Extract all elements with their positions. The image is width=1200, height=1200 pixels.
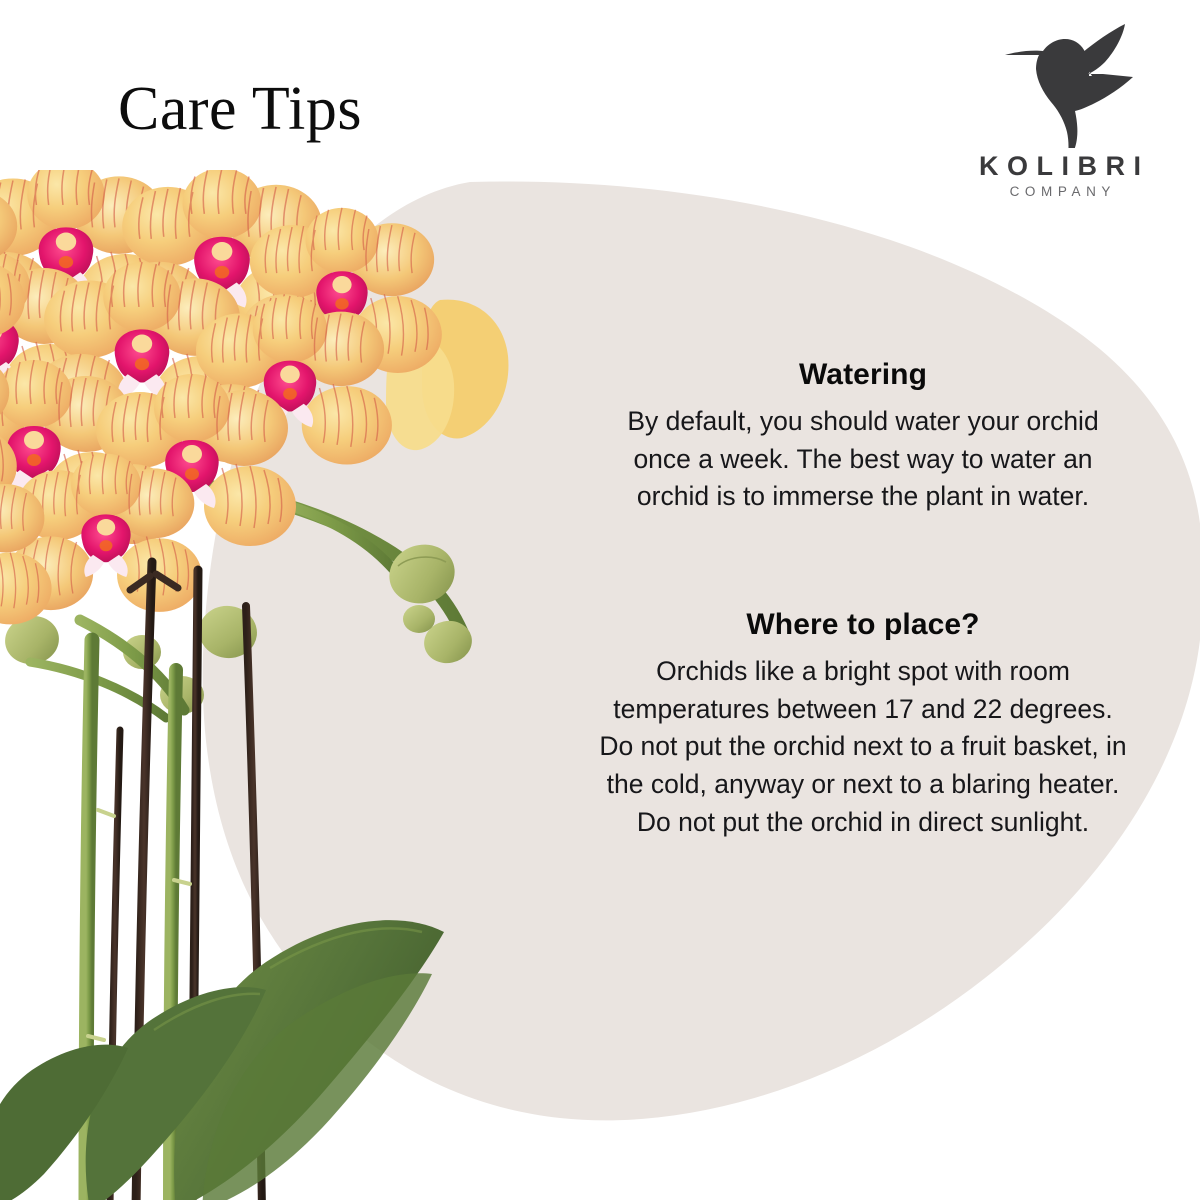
watering-body: By default, you should water your orchid… [596,403,1130,516]
orchid-photograph [0,170,590,1200]
care-tips-card: Care Tips KOLIBRI COMPANY [0,0,1200,1200]
watering-heading: Watering [596,358,1130,391]
placement-body: Orchids like a bright spot with room tem… [596,653,1130,841]
logo-wordmark: KOLIBRI [971,152,1150,180]
logo-subwordmark: COMPANY [1004,185,1116,199]
brand-logo: KOLIBRI COMPANY [960,22,1160,222]
page-title: Care Tips [118,78,362,140]
tip-section-watering: Watering By default, you should water yo… [596,358,1130,516]
orchid-bud [403,605,435,633]
tip-section-placement: Where to place? Orchids like a bright sp… [596,608,1130,841]
placement-heading: Where to place? [596,608,1130,641]
hummingbird-icon [985,22,1135,148]
